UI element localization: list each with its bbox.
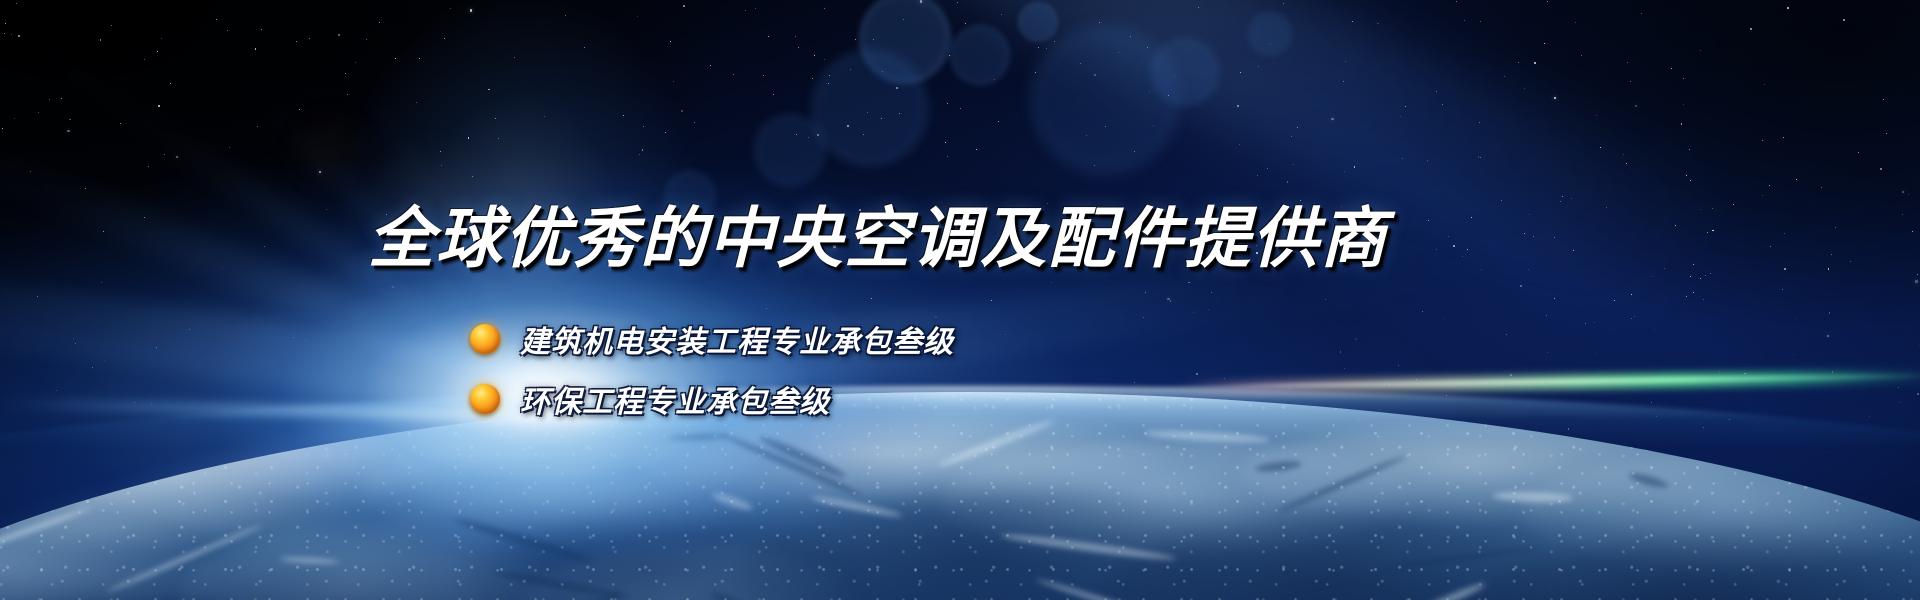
- banner-headline: 全球优秀的中央空调及配件提供商: [368, 206, 1388, 272]
- bullet-dot-icon: [470, 324, 500, 354]
- list-item: 建筑机电安装工程专业承包叁级: [470, 312, 954, 366]
- list-item: 环保工程专业承包叁级: [470, 372, 954, 426]
- bullet-label: 环保工程专业承包叁级: [520, 377, 830, 421]
- banner-content: 全球优秀的中央空调及配件提供商 建筑机电安装工程专业承包叁级 环保工程专业承包叁…: [0, 0, 1920, 600]
- hero-banner: 全球优秀的中央空调及配件提供商 建筑机电安装工程专业承包叁级 环保工程专业承包叁…: [0, 0, 1920, 600]
- banner-bullet-list: 建筑机电安装工程专业承包叁级 环保工程专业承包叁级: [470, 312, 954, 432]
- bullet-dot-icon: [470, 384, 500, 414]
- bullet-label: 建筑机电安装工程专业承包叁级: [520, 317, 954, 361]
